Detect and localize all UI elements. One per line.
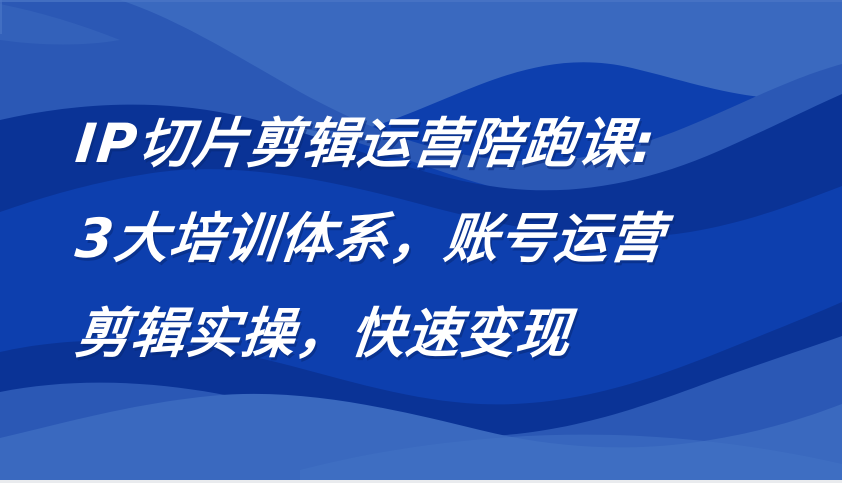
headline-block: IP切片剪辑运营陪跑课: 3大培训体系，账号运营 剪辑实操，快速变现 — [0, 96, 842, 381]
course-promo-banner: IP切片剪辑运营陪跑课: 3大培训体系，账号运营 剪辑实操，快速变现 — [0, 0, 842, 483]
headline-line-3: 剪辑实操，快速变现 — [41, 286, 801, 381]
headline-line-1: IP切片剪辑运营陪跑课: — [41, 96, 801, 191]
headline-line-2: 3大培训体系，账号运营 — [41, 191, 801, 286]
